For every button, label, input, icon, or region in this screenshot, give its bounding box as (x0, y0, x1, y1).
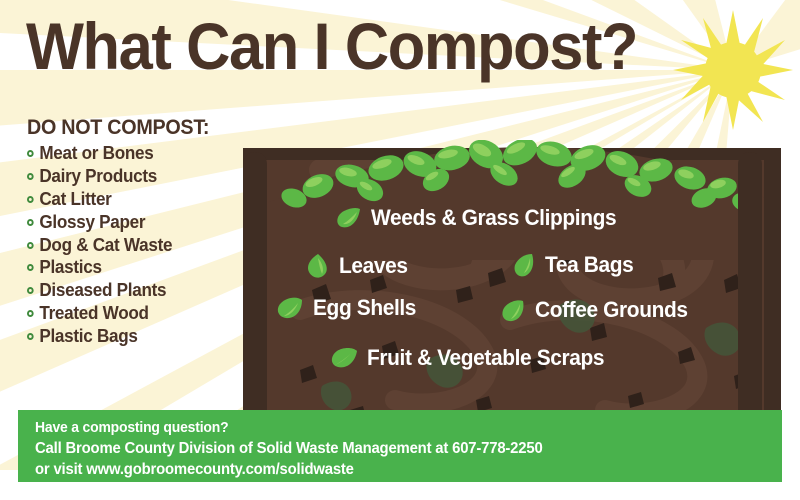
list-item: Plastic Bags (27, 327, 227, 346)
leaf-mound (224, 140, 800, 260)
compost-item-label: Coffee Grounds (535, 297, 688, 323)
list-item: Dairy Products (27, 167, 227, 186)
list-item: Dog & Cat Waste (27, 236, 227, 255)
ring-bullet-icon (27, 333, 34, 340)
list-item-label: Glossy Paper (39, 213, 145, 232)
footer-line-2: Call Broome County Division of Solid Was… (35, 440, 730, 458)
compost-item-label: Weeds & Grass Clippings (371, 205, 616, 231)
ring-bullet-icon (27, 264, 34, 271)
ring-bullet-icon (27, 150, 34, 157)
list-item-label: Diseased Plants (39, 281, 166, 300)
ring-bullet-icon (27, 173, 34, 180)
bin-post-right (738, 152, 762, 420)
leaf-icon (306, 253, 330, 279)
list-item-label: Plastic Bags (39, 327, 137, 346)
ring-bullet-icon (27, 219, 34, 226)
list-item: Treated Wood (27, 304, 227, 323)
list-item-label: Treated Wood (39, 304, 148, 323)
footer-contact-bar: Have a composting question? Call Broome … (18, 410, 782, 482)
list-item-label: Dairy Products (39, 167, 157, 186)
compost-item: Egg Shells (276, 295, 421, 321)
leaf-icon (512, 252, 536, 278)
compost-item: Weeds & Grass Clippings (336, 205, 629, 231)
bin-post-left (243, 152, 267, 420)
ring-bullet-icon (27, 196, 34, 203)
list-item: Plastics (27, 258, 227, 277)
do-not-compost-heading: DO NOT COMPOST: (27, 116, 224, 140)
compost-item: Fruit & Vegetable Scraps (330, 345, 617, 371)
list-item: Cat Litter (27, 190, 227, 209)
list-item-label: Plastics (39, 258, 101, 277)
leaf-icon (276, 296, 304, 320)
compost-item: Leaves (306, 253, 411, 279)
list-item: Glossy Paper (27, 213, 227, 232)
leaf-icon (336, 206, 362, 230)
list-item-label: Meat or Bones (39, 144, 153, 163)
compost-item-label: Egg Shells (313, 295, 416, 321)
page-title: What Can I Compost? (26, 8, 637, 84)
ring-bullet-icon (27, 310, 34, 317)
list-item: Meat or Bones (27, 144, 227, 163)
compost-item-label: Leaves (339, 253, 408, 279)
do-not-compost-list: DO NOT COMPOST: Meat or Bones Dairy Prod… (27, 116, 237, 346)
leaf-icon (330, 346, 358, 370)
compost-item-label: Fruit & Vegetable Scraps (367, 345, 604, 371)
compost-item: Coffee Grounds (500, 297, 696, 323)
list-item-label: Dog & Cat Waste (39, 236, 172, 255)
ring-bullet-icon (27, 287, 34, 294)
leaf-icon (500, 298, 526, 323)
footer-line-1: Have a composting question? (35, 419, 730, 436)
compost-bin-illustration: Weeds & Grass Clippings Leaves Tea Bags … (224, 140, 800, 436)
list-item: Diseased Plants (27, 281, 227, 300)
compost-item-label: Tea Bags (545, 252, 633, 278)
compost-poster: What Can I Compost? DO NOT COMPOST: Meat… (0, 0, 800, 500)
list-item-label: Cat Litter (39, 190, 111, 209)
compost-item: Tea Bags (512, 252, 638, 278)
sun-icon (668, 5, 798, 135)
ring-bullet-icon (27, 242, 34, 249)
footer-line-3: or visit www.gobroomecounty.com/solidwas… (35, 461, 730, 479)
